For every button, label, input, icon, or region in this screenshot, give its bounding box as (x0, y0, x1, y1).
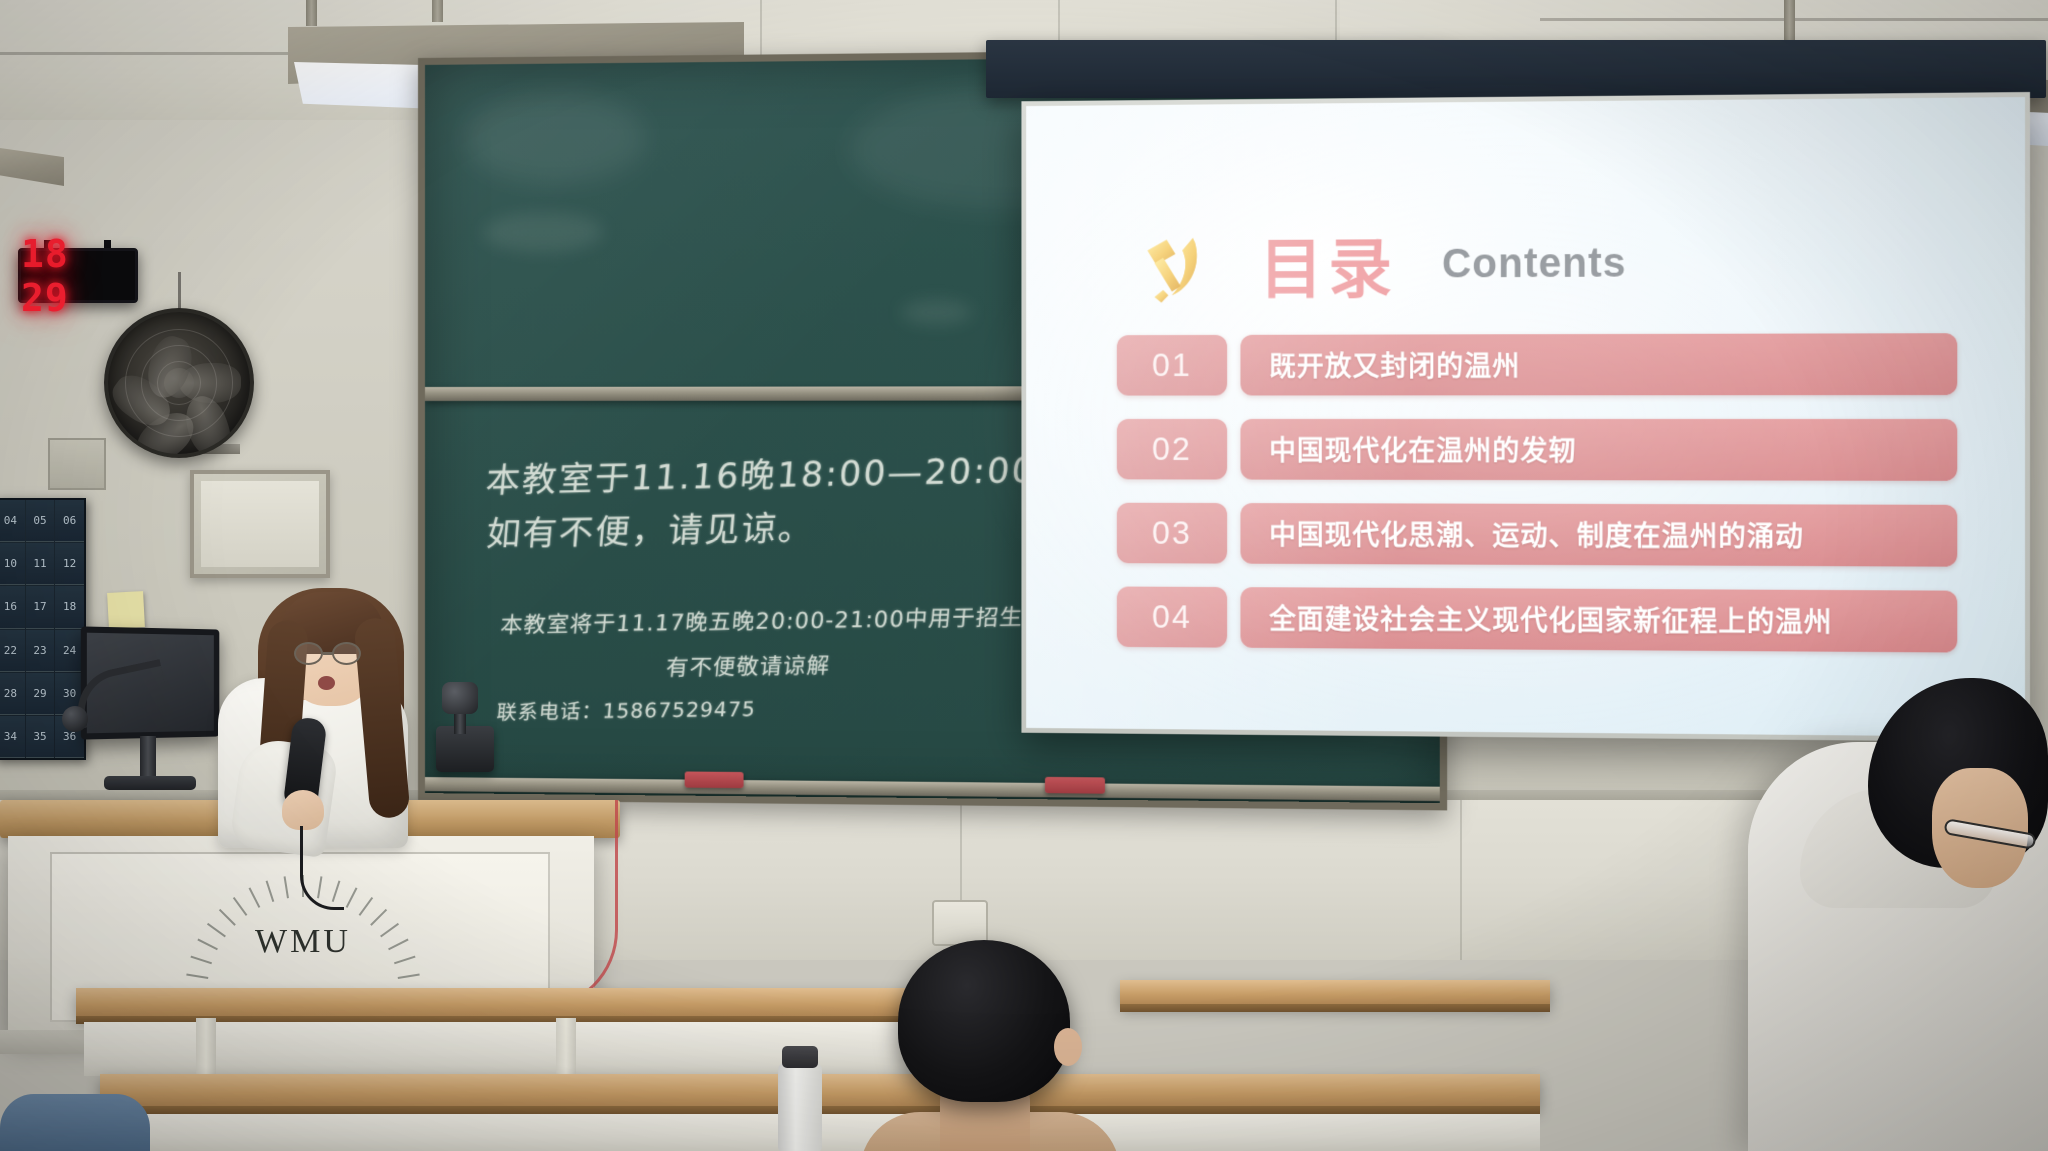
bench-front-panel (108, 1114, 1540, 1151)
slide-contents-number: 01 (1117, 335, 1227, 396)
bench-desktop (1120, 980, 1550, 1006)
sunburst-ray (346, 887, 358, 908)
slide-contents-label: 全面建设社会主义现代化国家新征程上的温州 (1240, 587, 1957, 652)
key-board-cell[interactable]: 06 (55, 500, 84, 542)
notice-inner (201, 481, 319, 567)
chalkboard-tray (425, 777, 1440, 801)
slide-contents-number: 04 (1117, 587, 1227, 648)
sticky-note (107, 591, 145, 629)
classroom-scene: 18 29 0405061011121617182223242829303435… (0, 0, 2048, 1151)
presenter-hand (282, 790, 324, 830)
slide-header: 目录 Contents (1128, 215, 1626, 311)
presenter-glasses (332, 642, 361, 665)
chalk-smudge (901, 299, 973, 326)
projection-screen: 目录 Contents 01既开放又封闭的温州02中国现代化在温州的发轫03中国… (1021, 92, 2030, 742)
slide-contents-label: 既开放又封闭的温州 (1240, 333, 1957, 395)
monitor-neck (140, 736, 156, 780)
podium-logo-text: WMU (208, 923, 398, 961)
sunburst-ray (359, 897, 374, 916)
slide-contents-row: 04全面建设社会主义现代化国家新征程上的温州 (1117, 587, 1957, 653)
hammer-and-sickle-icon (1128, 220, 1215, 310)
chalkboard-eraser[interactable] (685, 771, 744, 788)
screen-border: 目录 Contents 01既开放又封闭的温州02中国现代化在温州的发轫03中国… (1021, 92, 2030, 742)
microphone-cord (300, 826, 344, 910)
key-board-cell[interactable]: 18 (55, 586, 84, 628)
key-board-cell[interactable]: 16 (0, 586, 25, 628)
sunburst-ray (233, 897, 248, 916)
fan-cage-ring (125, 329, 233, 437)
key-board-cell[interactable]: 29 (26, 673, 55, 715)
chalk-line: 联系电话：15867529475 (496, 693, 758, 726)
slide-contents-row: 01既开放又封闭的温州 (1117, 333, 1957, 395)
student-ear (1054, 1028, 1082, 1066)
key-board-cell[interactable]: 23 (26, 630, 55, 672)
key-board-cell[interactable]: 10 (0, 543, 25, 585)
light-stem (432, 0, 443, 22)
key-board-cell[interactable]: 24 (55, 630, 84, 672)
key-board-cell[interactable]: 17 (26, 586, 55, 628)
bench-desktop (76, 988, 936, 1018)
key-board-cell[interactable]: 05 (26, 500, 55, 542)
presenter-glasses (294, 642, 323, 665)
presentation-slide: 目录 Contents 01既开放又封闭的温州02中国现代化在温州的发轫03中国… (1026, 97, 2025, 737)
slide-contents-row: 03中国现代化思潮、运动、制度在温州的涌动 (1117, 503, 1957, 567)
monitor-foot (104, 776, 196, 790)
presenter-mouth (318, 676, 335, 690)
desk-microphone-head[interactable] (442, 682, 478, 714)
bench-leg (196, 1018, 216, 1078)
slide-title-cn: 目录 (1260, 217, 1398, 312)
slide-contents-number: 03 (1117, 503, 1227, 564)
ceiling-seam (0, 52, 300, 55)
slide-contents-label: 中国现代化思潮、运动、制度在温州的涌动 (1240, 503, 1957, 567)
key-board-cell[interactable]: 11 (26, 543, 55, 585)
wall-seam (1460, 800, 1462, 960)
key-board-cell[interactable]: 04 (0, 500, 25, 542)
student-head-front (898, 940, 1070, 1102)
microphone-head (62, 706, 88, 732)
water-bottle-cap (782, 1046, 818, 1068)
presenter-glasses-bridge (323, 652, 333, 655)
wall-notice-frame (190, 470, 330, 578)
slide-contents-list: 01既开放又封闭的温州02中国现代化在温州的发轫03中国现代化思潮、运动、制度在… (1117, 333, 1957, 676)
clock-time-display: 18 29 (21, 232, 135, 320)
power-cord (520, 800, 618, 1010)
bench-edge (1120, 1004, 1550, 1012)
chalkboard-eraser[interactable] (1045, 777, 1105, 794)
key-board-cell[interactable]: 34 (0, 716, 25, 758)
key-board-cell[interactable]: 28 (0, 673, 25, 715)
wall-fan[interactable] (104, 308, 254, 458)
chalk-smudge (483, 212, 604, 253)
slide-title-en: Contents (1442, 239, 1626, 287)
water-bottle[interactable] (778, 1062, 822, 1151)
key-board-cell[interactable]: 12 (55, 543, 84, 585)
chalk-line: 如有不便，请见谅。 (485, 500, 818, 555)
board-glare (465, 93, 646, 185)
light-stem (306, 0, 317, 26)
digital-wall-clock: 18 29 (18, 248, 138, 303)
sunburst-ray (266, 880, 275, 902)
wall-vent (48, 438, 106, 490)
chalk-line: 有不便敬请谅解 (665, 648, 832, 683)
bench-leg (556, 1018, 576, 1078)
sunburst-ray (284, 876, 289, 898)
projector-screen-housing (986, 40, 2046, 98)
slide-contents-number: 02 (1117, 419, 1227, 480)
key-board-cell[interactable]: 22 (0, 630, 25, 672)
slide-contents-label: 中国现代化在温州的发轫 (1240, 419, 1957, 481)
key-board-cell[interactable]: 35 (26, 716, 55, 758)
person-arm-left (0, 1094, 150, 1151)
slide-contents-row: 02中国现代化在温州的发轫 (1117, 419, 1957, 481)
sunburst-ray (249, 887, 261, 908)
